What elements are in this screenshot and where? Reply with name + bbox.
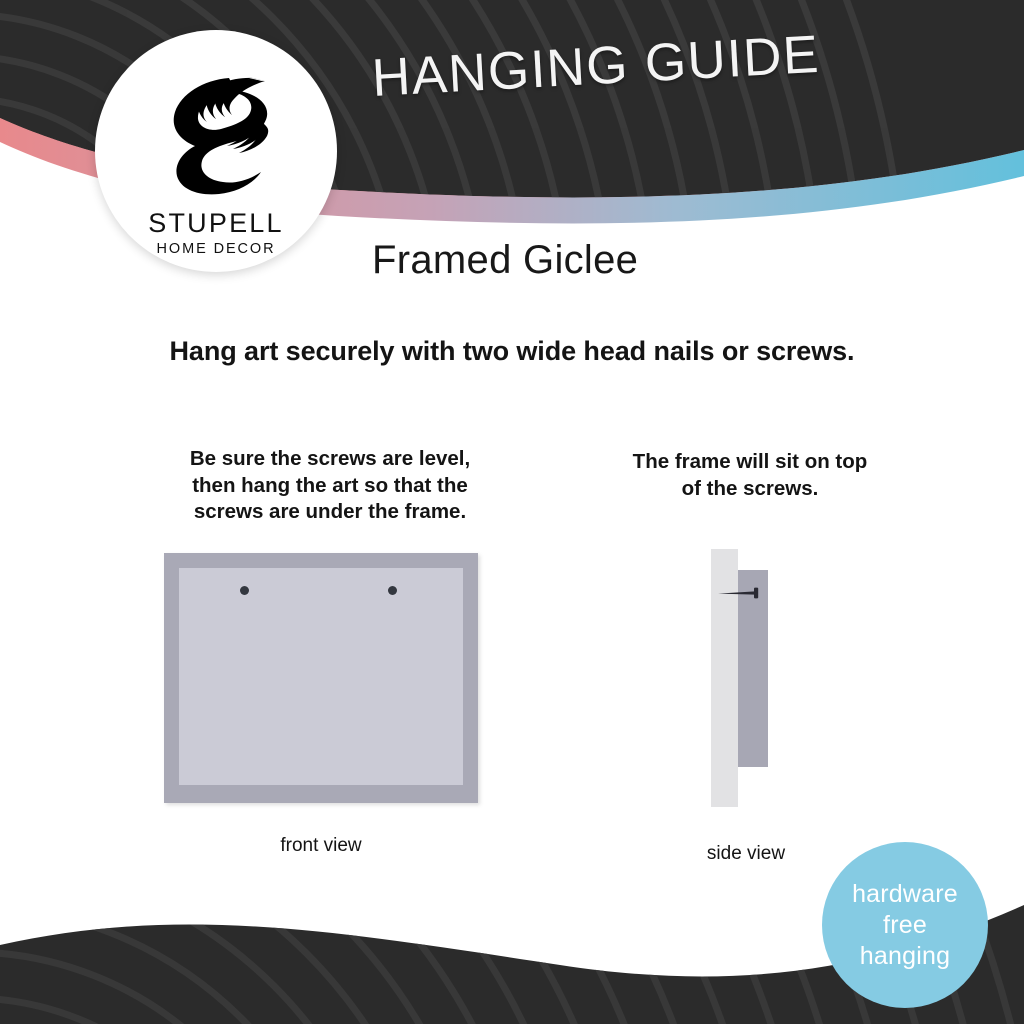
brand-subwordmark: HOME DECOR <box>95 241 337 257</box>
stupell-swoosh-icon <box>141 54 291 204</box>
side-view-diagram <box>711 549 781 807</box>
intro-instruction: Hang art securely with two wide head nai… <box>0 336 1024 367</box>
hanging-guide-poster: HANGING GUIDE STUPELL HOME DECOR Framed … <box>0 0 1024 1024</box>
front-view-caption: Be sure the screws are level, then hang … <box>160 446 500 526</box>
side-view-label: side view <box>666 843 826 865</box>
front-caption-line-3: screws are under the frame. <box>160 499 500 526</box>
screw-dot-left-icon <box>240 586 249 595</box>
front-view-diagram <box>164 553 478 803</box>
brand-logo-badge: STUPELL HOME DECOR <box>95 30 337 272</box>
brand-wordmark: STUPELL <box>95 208 337 239</box>
badge-line-2: free <box>883 910 927 941</box>
screw-dot-right-icon <box>388 586 397 595</box>
front-caption-line-1: Be sure the screws are level, <box>160 446 500 473</box>
badge-line-3: hanging <box>860 941 950 972</box>
product-name: Framed Giclee <box>372 238 638 283</box>
frame-panel <box>179 568 463 785</box>
side-caption-line-2: of the screws. <box>595 476 905 503</box>
front-view-label: front view <box>164 835 478 857</box>
badge-line-1: hardware <box>852 879 958 910</box>
hardware-free-hanging-badge: hardware free hanging <box>822 842 988 1008</box>
front-caption-line-2: then hang the art so that the <box>160 473 500 500</box>
page-title: HANGING GUIDE <box>370 20 893 109</box>
nail-icon <box>717 587 761 599</box>
side-caption-line-1: The frame will sit on top <box>595 449 905 476</box>
side-view-caption: The frame will sit on top of the screws. <box>595 449 905 502</box>
frame-profile <box>738 570 768 767</box>
frame-border <box>164 553 478 803</box>
